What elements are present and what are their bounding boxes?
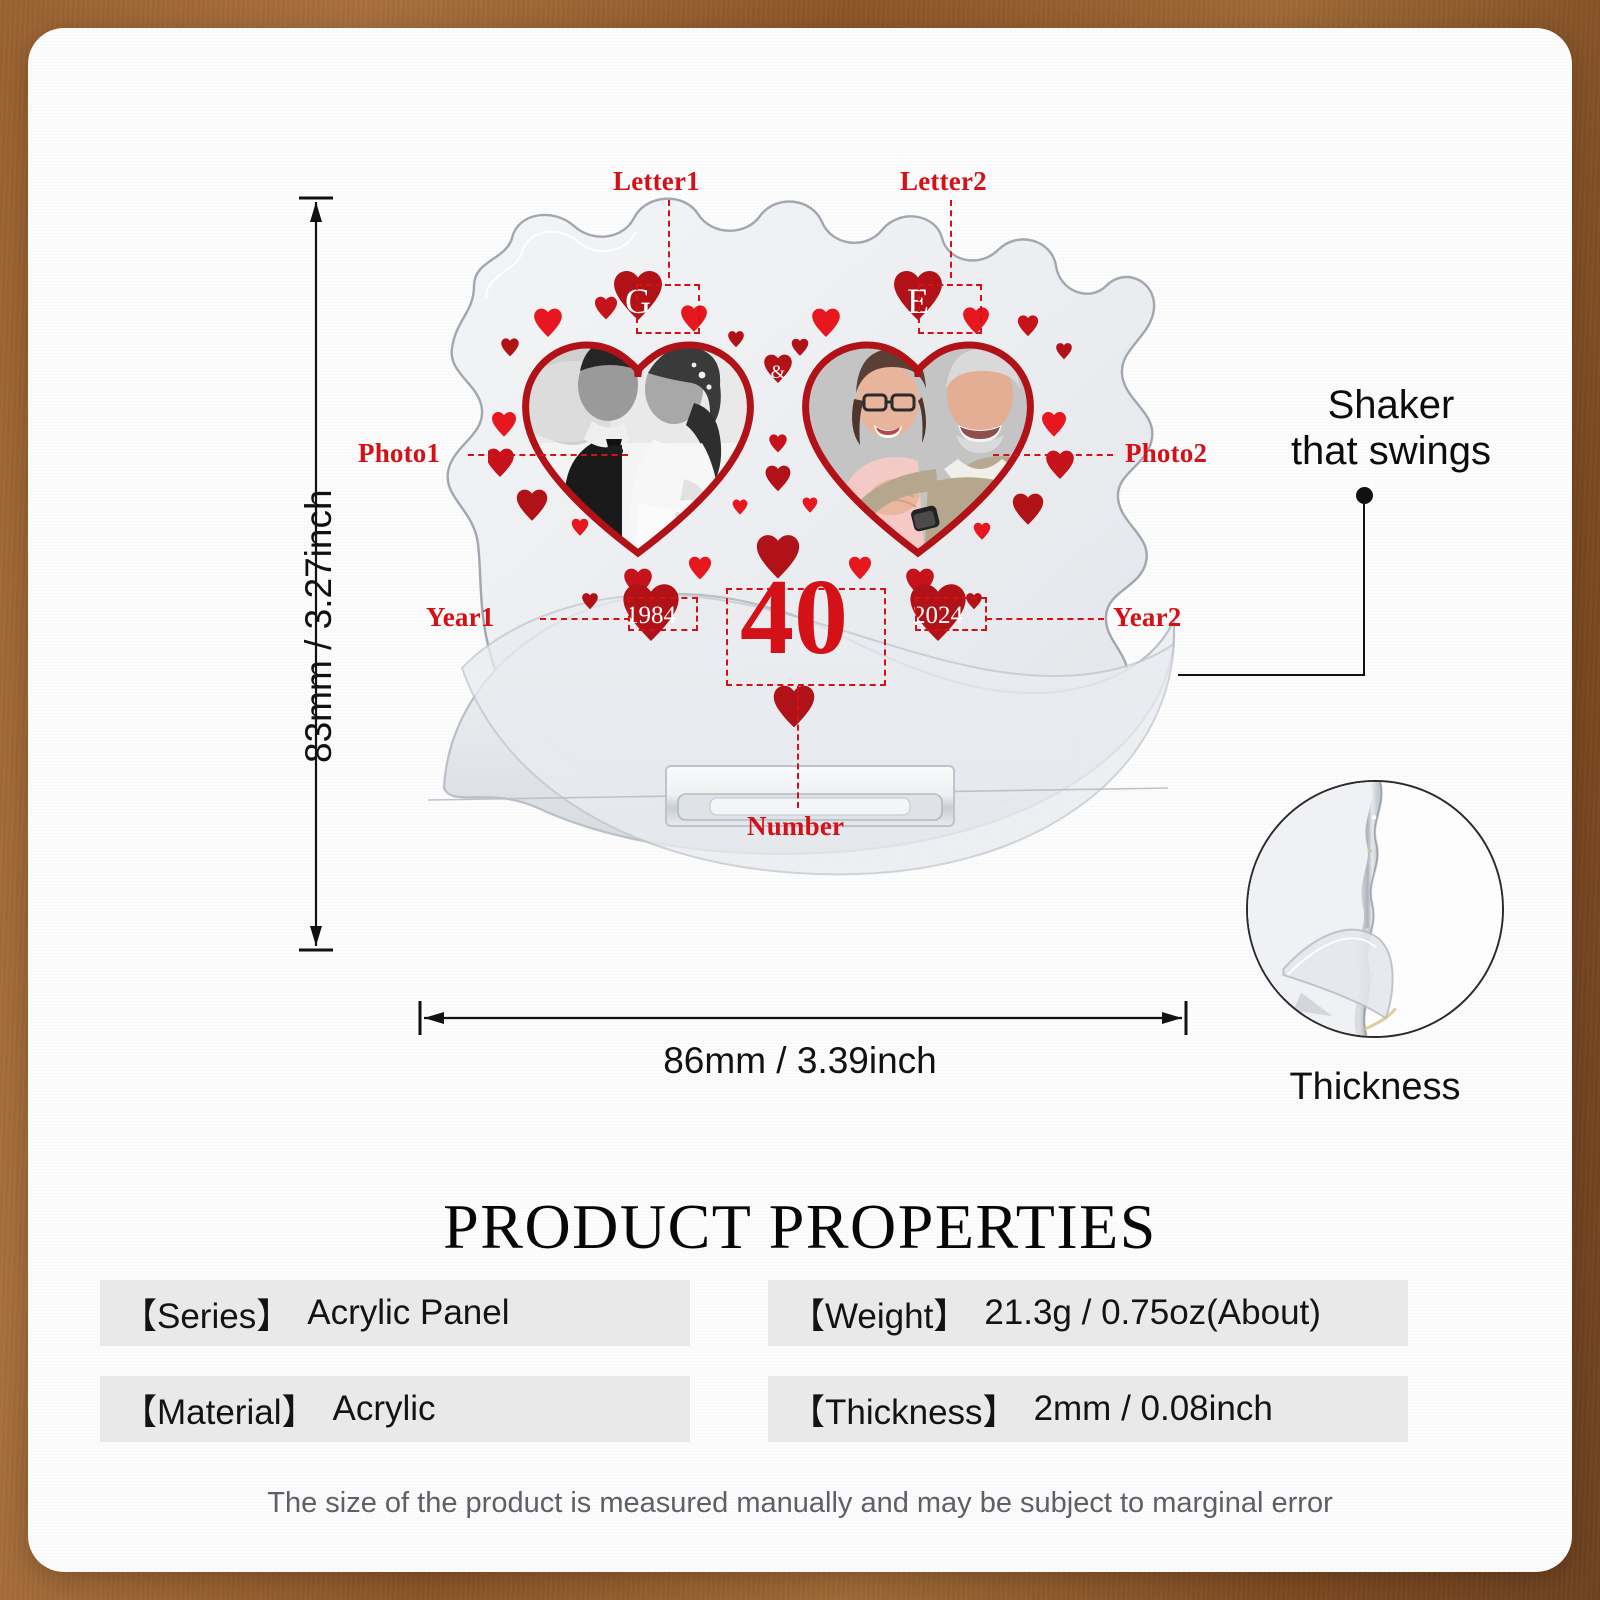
property-row-material: 【Material】 Acrylic xyxy=(100,1376,690,1442)
property-row-weight: 【Weight】 21.3g / 0.75oz(About) xyxy=(768,1280,1408,1346)
leader-year1 xyxy=(540,618,630,620)
product-properties-title: PRODUCT PROPERTIES xyxy=(28,1190,1572,1264)
leader-photo2 xyxy=(993,454,1113,456)
property-row-series: 【Series】 Acrylic Panel xyxy=(100,1280,690,1346)
label-letter1: Letter1 xyxy=(613,166,700,197)
thickness-zoom-image xyxy=(1248,782,1502,1036)
property-value-material: Acrylic xyxy=(332,1389,435,1429)
callout-leader-vertical xyxy=(1363,498,1365,676)
ampersand-value: & xyxy=(771,362,786,383)
selbox-letter1 xyxy=(636,284,700,334)
product-card: G E & 1984 xyxy=(28,28,1572,1572)
label-letter2: Letter2 xyxy=(900,166,987,197)
selbox-letter2 xyxy=(918,284,982,334)
property-key-weight: 【Weight】 xyxy=(790,1288,968,1339)
label-photo1: Photo1 xyxy=(358,438,440,469)
property-key-thickness: 【Thickness】 xyxy=(790,1384,1018,1435)
shaker-callout: Shaker that swings xyxy=(1286,383,1496,474)
page-root: G E & 1984 xyxy=(0,0,1600,1600)
dimension-height-label: 83mm / 3.27inch xyxy=(298,489,340,763)
selbox-number xyxy=(726,588,886,686)
property-row-thickness: 【Thickness】 2mm / 0.08inch xyxy=(768,1376,1408,1442)
leader-letter2 xyxy=(950,200,952,278)
product-stage: G E & 1984 xyxy=(28,28,1572,1572)
property-value-weight: 21.3g / 0.75oz(About) xyxy=(984,1293,1321,1333)
property-value-thickness: 2mm / 0.08inch xyxy=(1034,1389,1273,1429)
callout-leader-horizontal xyxy=(1178,674,1365,676)
shaker-callout-line1: Shaker xyxy=(1328,383,1455,427)
dimension-horizontal xyxy=(398,993,1208,1043)
property-key-series: 【Series】 xyxy=(122,1288,291,1339)
label-number: Number xyxy=(747,811,844,842)
label-year2: Year2 xyxy=(1113,602,1181,633)
shaker-heart xyxy=(774,686,814,728)
label-photo2: Photo2 xyxy=(1125,438,1207,469)
thickness-zoom-inset xyxy=(1246,780,1504,1038)
selbox-year1 xyxy=(628,597,698,631)
selbox-year2 xyxy=(915,597,987,631)
leader-year2 xyxy=(986,618,1104,620)
leader-photo1 xyxy=(468,454,628,456)
property-value-series: Acrylic Panel xyxy=(307,1293,509,1333)
shaker-callout-line2: that swings xyxy=(1291,429,1491,473)
label-year1: Year1 xyxy=(426,602,494,633)
property-key-material: 【Material】 xyxy=(122,1384,316,1435)
leader-number xyxy=(797,686,799,808)
measurement-disclaimer: The size of the product is measured manu… xyxy=(28,1487,1572,1520)
leader-letter1 xyxy=(668,200,670,278)
thickness-inset-label: Thickness xyxy=(1246,1066,1504,1109)
